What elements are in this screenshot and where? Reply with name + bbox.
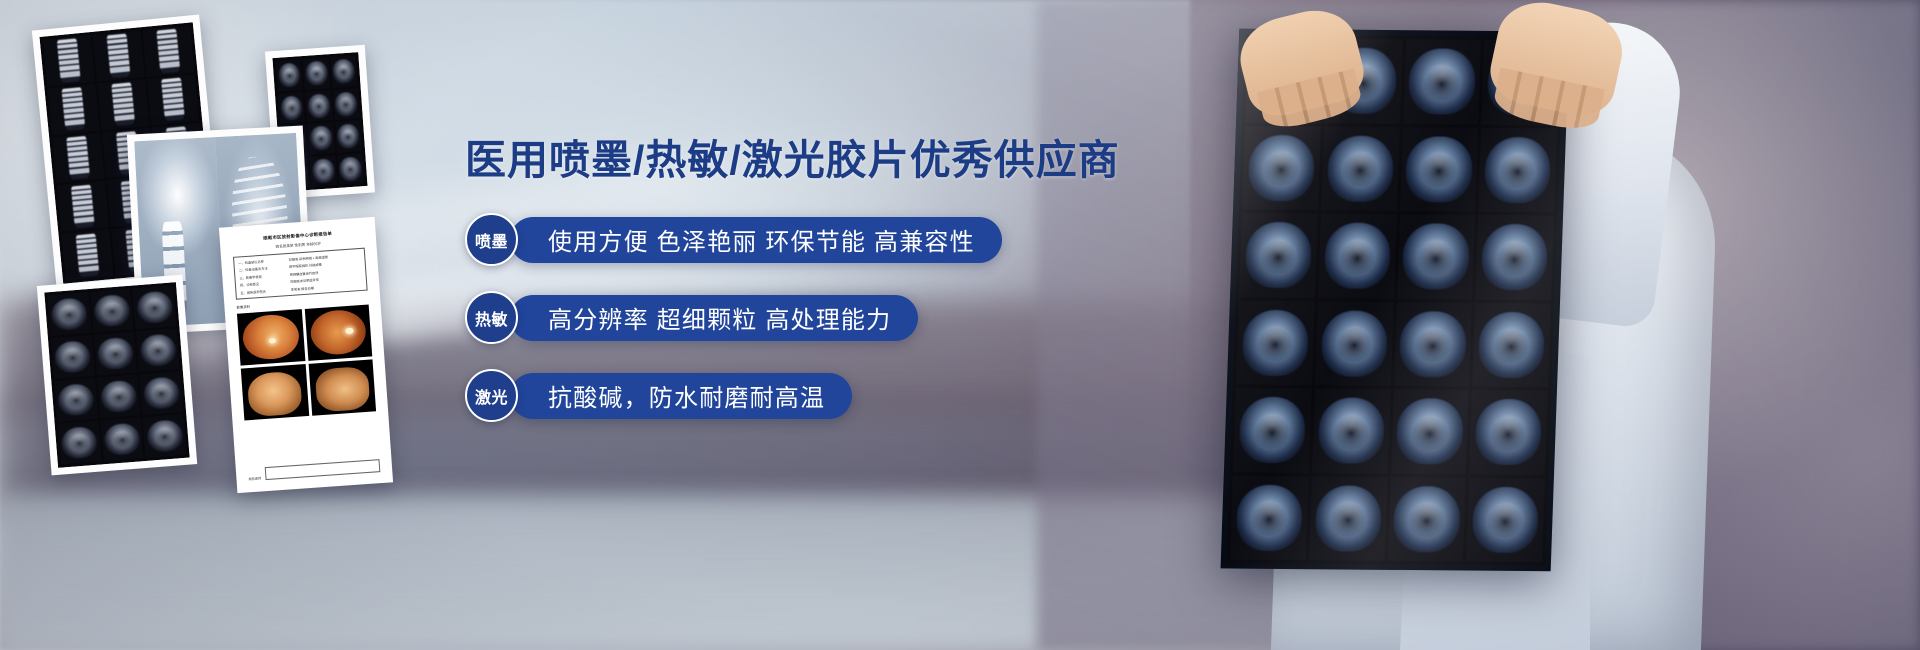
mri-slice	[93, 332, 137, 376]
medical-film-hero-banner: 眼眶市区放射影像中心诊断报告单 姓名张某某 性别男 年龄55岁 一、检查部位名称…	[0, 0, 1920, 650]
ultrasound-photo-right	[308, 359, 376, 415]
xray-slice	[142, 25, 194, 76]
feature-badge-thermal[interactable]: 热敏	[465, 291, 518, 344]
mri-slice	[90, 289, 134, 333]
report-image-gallery	[237, 304, 376, 420]
report-signature-box	[264, 459, 380, 480]
report-row-key: 五、报告医师签名	[240, 287, 287, 295]
mri-slice	[276, 59, 303, 91]
mri-slice	[1469, 390, 1548, 475]
diagnostic-report-sheet: 眼眶市区放射影像中心诊断报告单 姓名张某某 性别男 年龄55岁 一、检查部位名称…	[219, 217, 393, 493]
mri-slice	[1242, 125, 1321, 210]
xray-slice	[97, 79, 149, 130]
xray-slice	[47, 84, 99, 135]
doctor-left-hand	[1232, 1, 1370, 123]
feature-list: 喷墨 使用方便 色泽艳丽 环保节能 高兼容性 热敏 高分辨率 超细颗粒 高处理能…	[465, 213, 1085, 422]
report-footer: 报告医师	[248, 459, 381, 481]
xray-slice	[52, 132, 104, 183]
mri-slice	[100, 417, 144, 461]
mri-slice	[1475, 215, 1554, 300]
mri-plate	[44, 282, 189, 468]
xray-slice	[43, 35, 95, 86]
feature-badge-inkjet[interactable]: 喷墨	[465, 213, 518, 266]
mri-slice	[1230, 475, 1309, 560]
mri-slice	[337, 153, 364, 185]
doctor-right-hand	[1485, 0, 1630, 122]
medical-film-samples-stack: 眼眶市区放射影像中心诊断报告单 姓名张某某 性别男 年龄55岁 一、检查部位名称…	[0, 0, 420, 650]
mri-slice	[278, 92, 305, 124]
mri-slice	[1315, 301, 1394, 386]
mri-slice	[1318, 213, 1397, 298]
mri-slice	[1239, 213, 1318, 298]
mri-slice	[48, 292, 92, 336]
mri-slice	[97, 374, 141, 418]
doctor-photo-group	[1040, 0, 1920, 650]
fundus-photo-right	[304, 304, 372, 360]
mri-slice	[1478, 127, 1557, 212]
mri-slice	[1403, 39, 1482, 124]
mri-slice	[1312, 388, 1391, 473]
feature-row-laser[interactable]: 激光 抗酸碱，防水耐磨耐高温	[465, 369, 1085, 422]
mri-slice	[310, 155, 337, 187]
xray-slice	[57, 181, 109, 232]
mri-slice	[133, 285, 177, 329]
mri-slice	[1309, 476, 1388, 561]
feature-pill-inkjet[interactable]: 使用方便 色泽艳丽 环保节能 高兼容性	[510, 217, 1002, 263]
xray-slice	[93, 30, 145, 81]
mri-slice	[54, 378, 98, 422]
mri-slice	[1390, 389, 1469, 474]
feature-pill-laser[interactable]: 抗酸碱，防水耐磨耐高温	[510, 373, 852, 419]
report-page: 眼眶市区放射影像中心诊断报告单 姓名张某某 性别男 年龄55岁 一、检查部位名称…	[225, 223, 386, 486]
mri-slice	[1400, 127, 1479, 212]
fundus-photo-left	[237, 309, 305, 365]
feature-row-thermal[interactable]: 热敏 高分辨率 超细颗粒 高处理能力	[465, 291, 1085, 344]
xray-slice	[147, 74, 199, 125]
mri-slice	[1321, 126, 1400, 211]
mri-slice	[143, 414, 187, 458]
mri-slice	[1393, 302, 1472, 387]
mri-slice-grid	[44, 282, 189, 468]
feature-row-inkjet[interactable]: 喷墨 使用方便 色泽艳丽 环保节能 高兼容性	[465, 213, 1085, 266]
mri-slice	[136, 328, 180, 372]
mri-slice	[58, 421, 102, 465]
mri-slice	[332, 88, 359, 120]
mri-slice	[305, 90, 332, 122]
feature-badge-laser[interactable]: 激光	[465, 369, 518, 422]
mri-slice	[1233, 388, 1312, 473]
mri-slice	[1466, 477, 1545, 562]
page-title: 医用喷墨/热敏/激光胶片优秀供应商	[465, 136, 1085, 184]
report-footer-label: 报告医师	[248, 475, 261, 481]
mri-slice	[139, 371, 183, 415]
ultrasound-photo-left	[241, 364, 309, 420]
mri-slice	[51, 335, 95, 379]
mri-slice	[335, 120, 362, 152]
xray-slice	[61, 229, 113, 280]
mri-slice	[303, 57, 330, 89]
mri-slice	[1397, 214, 1476, 299]
feature-pill-thermal[interactable]: 高分辨率 超细颗粒 高处理能力	[510, 295, 918, 341]
mri-slice	[330, 55, 357, 87]
report-findings-table: 一、检查部位名称 双眼底 彩色照相 + 眼底造影 二、检查设备及方法 数字眼底相…	[233, 248, 368, 300]
mri-slice	[1236, 300, 1315, 385]
mri-slice	[1387, 476, 1466, 561]
hero-text-block: 医用喷墨/热敏/激光胶片优秀供应商 喷墨 使用方便 色泽艳丽 环保节能 高兼容性…	[465, 136, 1085, 422]
mri-slice	[1472, 302, 1551, 387]
brain-mri-sheet-left	[37, 275, 197, 476]
mri-slice	[307, 122, 334, 154]
